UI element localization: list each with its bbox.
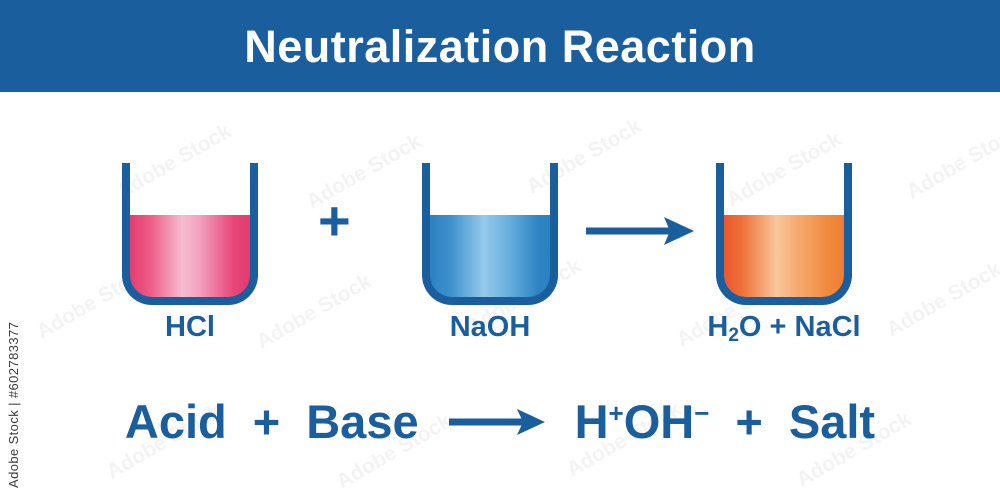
watermark-tile: Adobe Stock: [903, 120, 1000, 205]
plus-operator-icon: +: [318, 193, 351, 249]
header-band: Neutralization Reaction: [0, 0, 1000, 92]
watermark-tile: Adobe Stock: [883, 258, 1000, 343]
beaker-product-label-prefix: H: [707, 311, 728, 343]
beaker-product: H2O + NaCl: [716, 163, 852, 305]
equation-h-charge: +: [609, 398, 624, 428]
beaker-acid-label: HCl: [82, 313, 298, 342]
beaker-base-liquid: [428, 215, 552, 300]
beaker-product-label: H2O + NaCl: [676, 313, 892, 342]
reaction-equation: Acid + Base H+OH− + Salt: [0, 398, 1000, 445]
beaker-product-liquid: [722, 215, 846, 300]
beaker-base-label: NaOH: [382, 313, 598, 342]
beaker-acid-liquid: [128, 215, 252, 300]
yields-arrow-icon: [584, 214, 696, 248]
equation-term-water-ions: H+OH−: [561, 398, 724, 445]
beaker-acid: HCl: [122, 163, 258, 305]
equation-yields-arrow-icon: [433, 406, 561, 438]
beaker-product-label-suffix: O + NaCl: [739, 311, 861, 343]
equation-term-salt: Salt: [775, 398, 889, 445]
equation-plus-2: +: [723, 398, 774, 445]
diagram-canvas: Adobe Stock Adobe Stock Adobe Stock Adob…: [0, 0, 1000, 501]
beaker-base: NaOH: [422, 163, 558, 305]
equation-plus-1: +: [241, 398, 292, 445]
equation-oh-charge: −: [694, 398, 709, 428]
beaker-product-label-subscript: 2: [728, 325, 739, 346]
equation-oh-symbol: OH: [624, 395, 695, 448]
equation-term-base: Base: [292, 398, 432, 445]
equation-term-acid: Acid: [111, 398, 241, 445]
watermark-side-text: Adobe Stock | #602783377: [6, 322, 21, 488]
page-title: Neutralization Reaction: [244, 24, 756, 69]
equation-h-symbol: H: [575, 395, 609, 448]
